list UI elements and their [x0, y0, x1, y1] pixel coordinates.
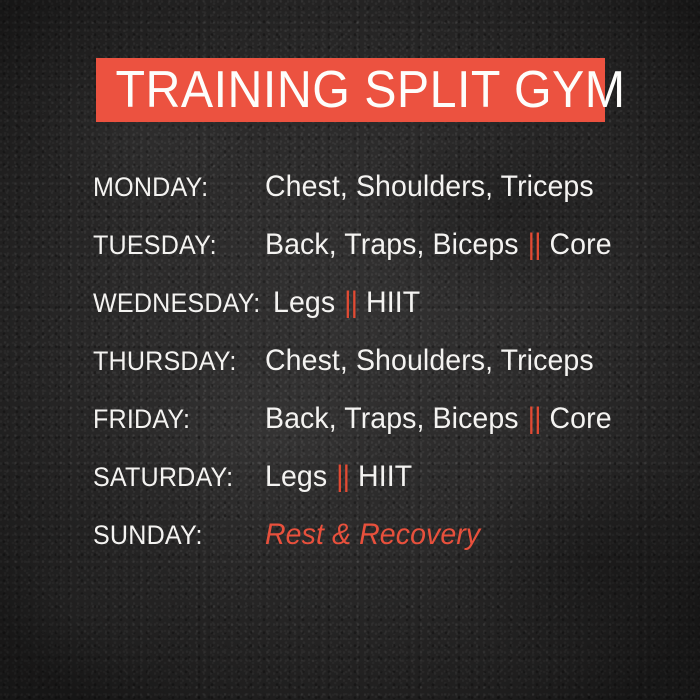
value-text: Legs [273, 286, 343, 319]
value-text: Back, Traps, Biceps [265, 402, 527, 435]
schedule-row: WEDNESDAY:Legs || HIIT [93, 288, 653, 346]
weekly-schedule-list: MONDAY:Chest, Shoulders, TricepsTUESDAY:… [93, 172, 653, 578]
day-label: SUNDAY: [93, 522, 253, 549]
day-label: THURSDAY: [93, 348, 253, 375]
day-label: FRIDAY: [93, 406, 253, 433]
value-text: Back, Traps, Biceps [265, 228, 527, 261]
value-text: HIIT [350, 460, 412, 493]
page-title: TRAINING SPLIT GYM [96, 64, 626, 116]
day-value: Chest, Shoulders, Triceps [265, 172, 634, 202]
schedule-row: FRIDAY:Back, Traps, Biceps || Core [93, 404, 653, 462]
day-label: SATURDAY: [93, 464, 253, 491]
day-value: Legs || HIIT [273, 288, 634, 318]
training-split-poster: TRAINING SPLIT GYM MONDAY:Chest, Shoulde… [0, 0, 700, 700]
value-separator-icon: || [343, 286, 358, 319]
value-text: Chest, Shoulders, Triceps [265, 170, 594, 203]
value-text: Chest, Shoulders, Triceps [265, 344, 594, 377]
day-value: Back, Traps, Biceps || Core [265, 230, 634, 260]
value-text: HIIT [358, 286, 420, 319]
value-text: Legs [265, 460, 335, 493]
day-value: Back, Traps, Biceps || Core [265, 404, 634, 434]
day-label: TUESDAY: [93, 232, 253, 259]
schedule-row: MONDAY:Chest, Shoulders, Triceps [93, 172, 653, 230]
value-separator-icon: || [527, 402, 542, 435]
schedule-row: SUNDAY:Rest & Recovery [93, 520, 653, 578]
schedule-row: SATURDAY:Legs || HIIT [93, 462, 653, 520]
schedule-row: THURSDAY:Chest, Shoulders, Triceps [93, 346, 653, 404]
value-separator-icon: || [527, 228, 542, 261]
day-value: Legs || HIIT [265, 462, 634, 492]
day-label: MONDAY: [93, 174, 253, 201]
value-text: Rest & Recovery [265, 518, 480, 551]
value-text: Core [541, 402, 611, 435]
title-banner: TRAINING SPLIT GYM [96, 58, 605, 122]
value-separator-icon: || [335, 460, 350, 493]
day-value: Chest, Shoulders, Triceps [265, 346, 634, 376]
value-text: Core [541, 228, 611, 261]
day-label: WEDNESDAY: [93, 290, 260, 317]
day-value-rest: Rest & Recovery [265, 520, 634, 550]
schedule-row: TUESDAY:Back, Traps, Biceps || Core [93, 230, 653, 288]
